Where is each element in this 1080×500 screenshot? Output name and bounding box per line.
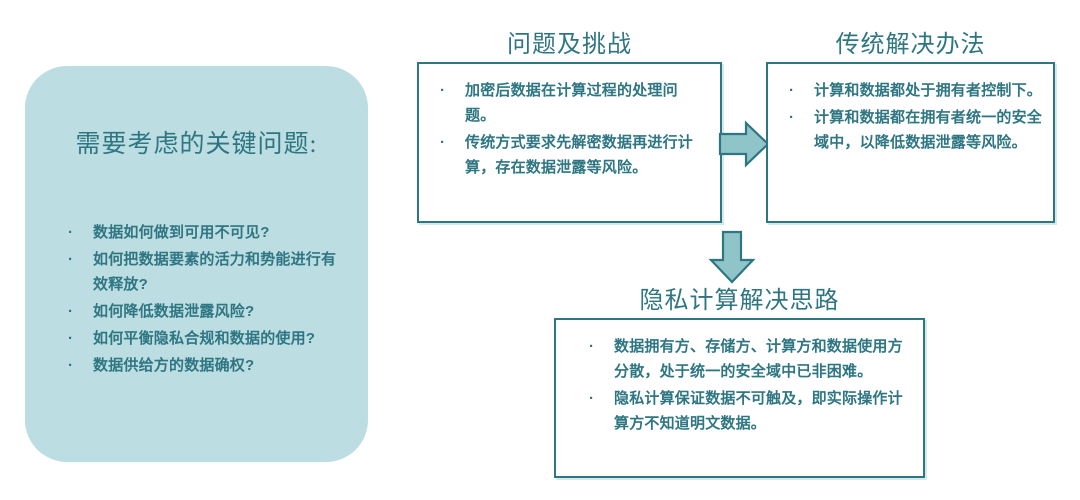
list-item-label: 如何平衡隐私合规和数据的使用? xyxy=(93,330,315,347)
list-item: · 隐私计算保证数据不可触及，即实际操作计算方不知道明文数据。 xyxy=(584,386,909,436)
list-item-label: 如何把数据要素的活力和势能进行有效释放? xyxy=(93,251,336,293)
challenges-box: · 加密后数据在计算过程的处理问题。 · 传统方式要求先解密数据再进行计算，存在… xyxy=(417,62,722,223)
list-item: · 计算和数据都处于拥有者控制下。 xyxy=(784,78,1043,103)
privacy-box: · 数据拥有方、存储方、计算方和数据使用方分散，处于统一的安全域中已非困难。 ·… xyxy=(554,318,925,478)
list-item-label: 加密后数据在计算过程的处理问题。 xyxy=(465,82,678,124)
list-item: · 如何把数据要素的活力和势能进行有效释放? xyxy=(63,247,341,297)
list-item-label: 计算和数据都处于拥有者控制下。 xyxy=(814,82,1042,99)
list-item: · 加密后数据在计算过程的处理问题。 xyxy=(435,78,708,128)
list-item: · 数据供给方的数据确权? xyxy=(63,353,341,378)
list-item-label: 隐私计算保证数据不可触及，即实际操作计算方不知道明文数据。 xyxy=(614,390,903,432)
privacy-list: · 数据拥有方、存储方、计算方和数据使用方分散，处于统一的安全域中已非困难。 ·… xyxy=(584,334,909,438)
key-questions-title: 需要考虑的关键问题: xyxy=(25,124,368,160)
traditional-box: · 计算和数据都处于拥有者控制下。 · 计算和数据都在拥有者统一的安全域中，以降… xyxy=(766,62,1055,223)
traditional-list: · 计算和数据都处于拥有者控制下。 · 计算和数据都在拥有者统一的安全域中，以降… xyxy=(784,78,1043,157)
list-item-label: 传统方式要求先解密数据再进行计算，存在数据泄露等风险。 xyxy=(465,134,693,176)
bullet-icon: · xyxy=(68,220,73,245)
challenges-box-title: 问题及挑战 xyxy=(417,24,722,59)
bullet-icon: · xyxy=(589,386,594,411)
list-item: · 数据拥有方、存储方、计算方和数据使用方分散，处于统一的安全域中已非困难。 xyxy=(584,334,909,384)
privacy-box-title: 隐私计算解决思路 xyxy=(554,280,925,315)
list-item: · 如何平衡隐私合规和数据的使用? xyxy=(63,326,341,351)
bullet-icon: · xyxy=(589,334,594,359)
bullet-icon: · xyxy=(789,105,794,130)
challenges-list: · 加密后数据在计算过程的处理问题。 · 传统方式要求先解密数据再进行计算，存在… xyxy=(435,78,708,182)
key-questions-panel: 需要考虑的关键问题: · 数据如何做到可用不可见? · 如何把数据要素的活力和势… xyxy=(25,66,368,462)
list-item-label: 数据如何做到可用不可见? xyxy=(93,224,270,241)
arrow-down-icon xyxy=(708,230,756,284)
bullet-icon: · xyxy=(68,353,73,378)
list-item-label: 如何降低数据泄露风险? xyxy=(93,303,254,320)
list-item: · 传统方式要求先解密数据再进行计算，存在数据泄露等风险。 xyxy=(435,130,708,180)
list-item-label: 计算和数据都在拥有者统一的安全域中，以降低数据泄露等风险。 xyxy=(814,109,1042,151)
arrow-right-icon xyxy=(718,120,770,168)
list-item: · 数据如何做到可用不可见? xyxy=(63,220,341,245)
bullet-icon: · xyxy=(789,78,794,103)
bullet-icon: · xyxy=(440,130,445,155)
list-item: · 计算和数据都在拥有者统一的安全域中，以降低数据泄露等风险。 xyxy=(784,105,1043,155)
bullet-icon: · xyxy=(68,326,73,351)
list-item-label: 数据拥有方、存储方、计算方和数据使用方分散，处于统一的安全域中已非困难。 xyxy=(614,338,903,380)
bullet-icon: · xyxy=(68,247,73,272)
key-questions-list: · 数据如何做到可用不可见? · 如何把数据要素的活力和势能进行有效释放? · … xyxy=(63,220,341,380)
bullet-icon: · xyxy=(68,299,73,324)
list-item: · 如何降低数据泄露风险? xyxy=(63,299,341,324)
bullet-icon: · xyxy=(440,78,445,103)
list-item-label: 数据供给方的数据确权? xyxy=(93,357,254,374)
traditional-box-title: 传统解决办法 xyxy=(766,24,1055,59)
